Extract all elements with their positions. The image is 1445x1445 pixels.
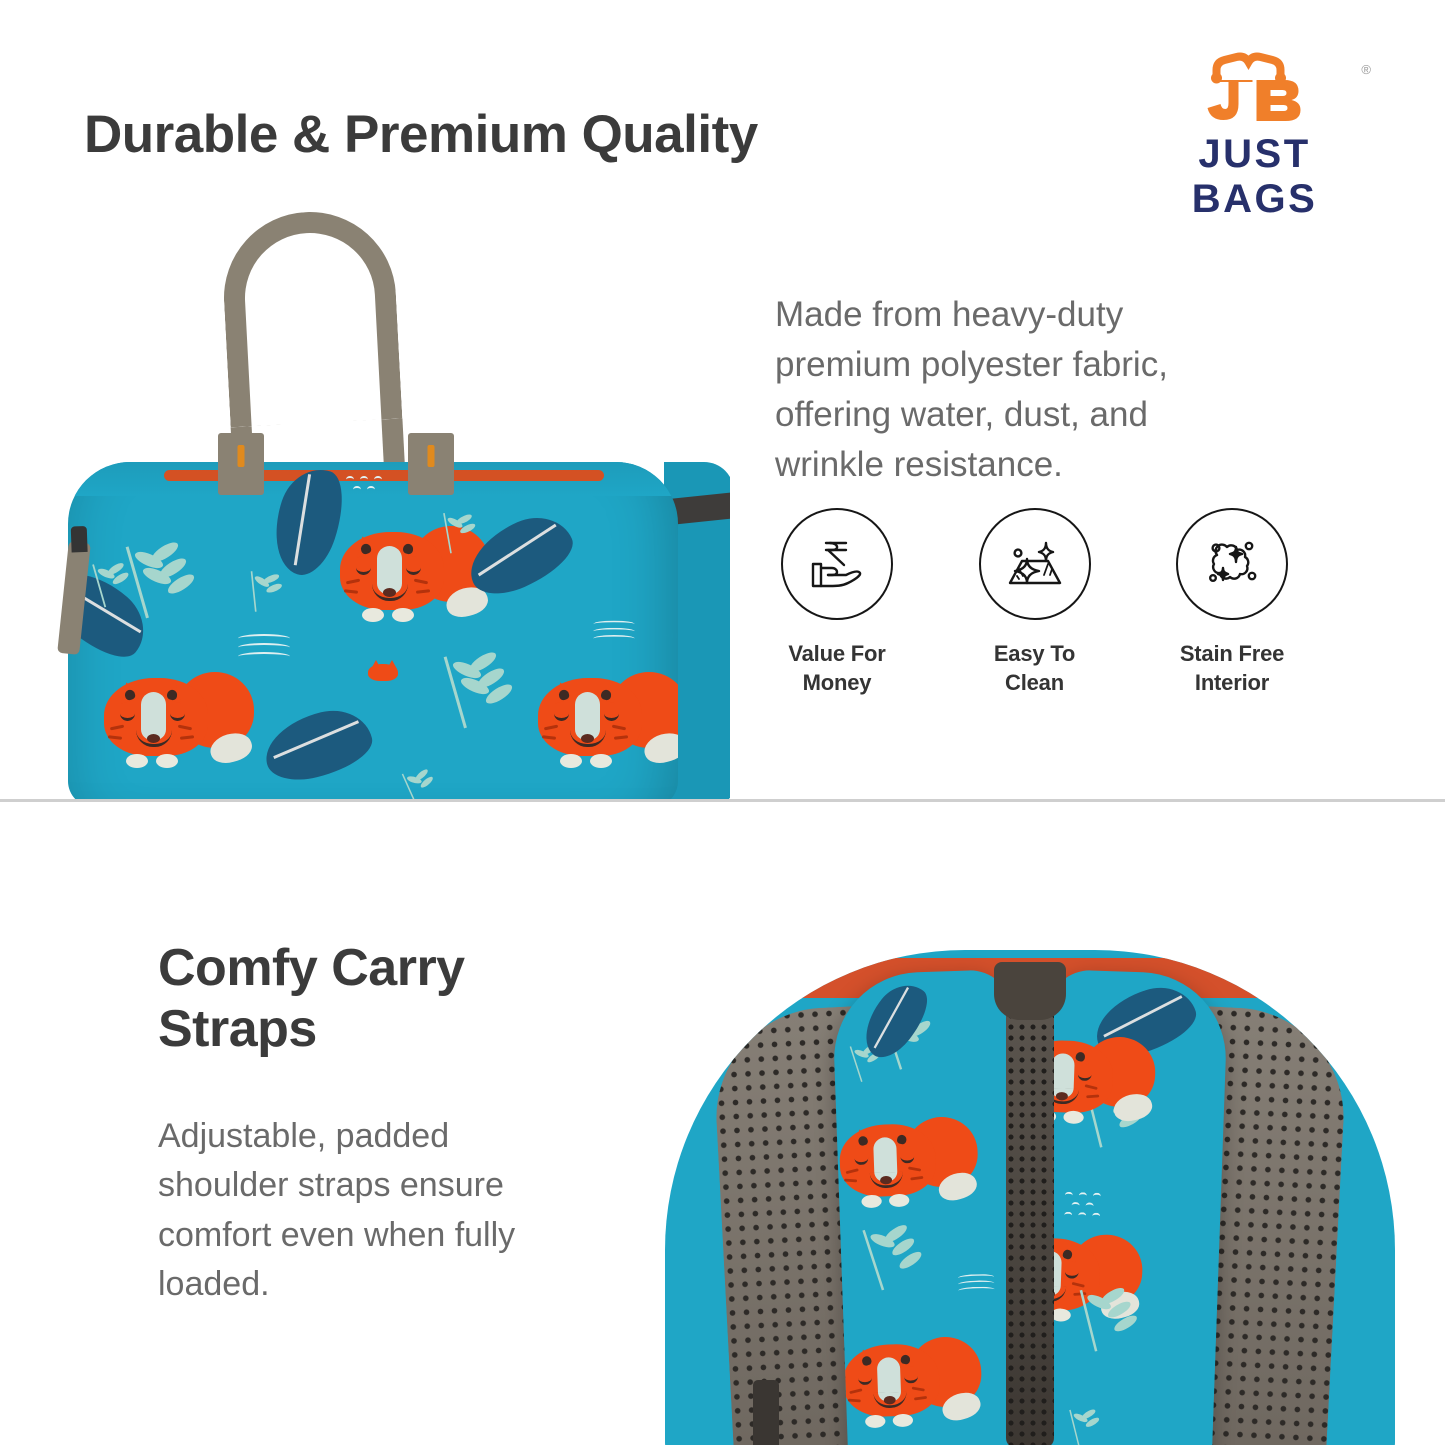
- rupee-in-hand-icon: [781, 508, 893, 620]
- leaf-motif-mint: [458, 654, 542, 728]
- registered-trademark-symbol: ®: [1361, 62, 1371, 77]
- backpack-grab-handle: [1006, 978, 1054, 1445]
- page-title: Durable & Premium Quality: [84, 104, 758, 165]
- lunch-bag-product-image: [30, 190, 730, 800]
- leaf-motif-mint: [409, 766, 456, 800]
- leaf-motif-mint: [140, 544, 224, 618]
- section-title: Comfy Carry Straps: [158, 938, 628, 1061]
- benefit-easy-to-clean: Easy To Clean: [960, 508, 1110, 697]
- benefit-label: Easy To Clean: [994, 639, 1075, 697]
- feature-description: Made from heavy-duty premium polyester f…: [775, 290, 1255, 490]
- bag-handle-left: [220, 208, 403, 428]
- benefit-icon-row: Value For Money Easy To Clean: [762, 508, 1307, 697]
- benefit-label: Stain Free Interior: [1180, 639, 1284, 697]
- fox-motif: [538, 670, 678, 762]
- benefit-value-for-money: Value For Money: [762, 508, 912, 697]
- brand-logo: ® JUST BAGS: [1132, 48, 1377, 183]
- benefit-label: Value For Money: [788, 639, 885, 697]
- wave-motif: [593, 621, 635, 642]
- leaf-motif-mint: [252, 571, 305, 619]
- leaf-motif-mint: [447, 512, 497, 557]
- backpack-side-zipper: [753, 1380, 779, 1445]
- section-divider: [0, 799, 1445, 802]
- backpack-grab-handle-loop: [994, 962, 1066, 1020]
- leaf-motif-mint: [101, 563, 151, 607]
- leaf-motif-navy: [258, 702, 378, 788]
- jb-monogram-icon: [1192, 48, 1317, 126]
- dots-motif: [346, 476, 406, 506]
- benefit-stain-free-interior: Stain Free Interior: [1157, 508, 1307, 697]
- backpack-shell: [665, 950, 1395, 1445]
- shoulder-strap-right: [1033, 969, 1228, 1445]
- backpack-straps-product-image: [615, 930, 1445, 1445]
- handle-tab-left: [218, 433, 264, 495]
- sparkle-surface-icon: [979, 508, 1091, 620]
- shoulder-strap-left: [831, 969, 1026, 1445]
- brand-wordmark: JUST BAGS: [1132, 132, 1377, 222]
- stain-bubble-icon: [1176, 508, 1288, 620]
- wave-motif: [238, 634, 290, 660]
- durable-premium-quality-section: Durable & Premium Quality ® JUST BAGS: [0, 0, 1445, 800]
- section-description: Adjustable, padded shoulder straps ensur…: [158, 1112, 588, 1309]
- tiny-fox-motif: [368, 660, 400, 682]
- fox-motif: [104, 670, 254, 762]
- bag-body: [68, 462, 678, 800]
- handle-tab-right: [408, 433, 454, 495]
